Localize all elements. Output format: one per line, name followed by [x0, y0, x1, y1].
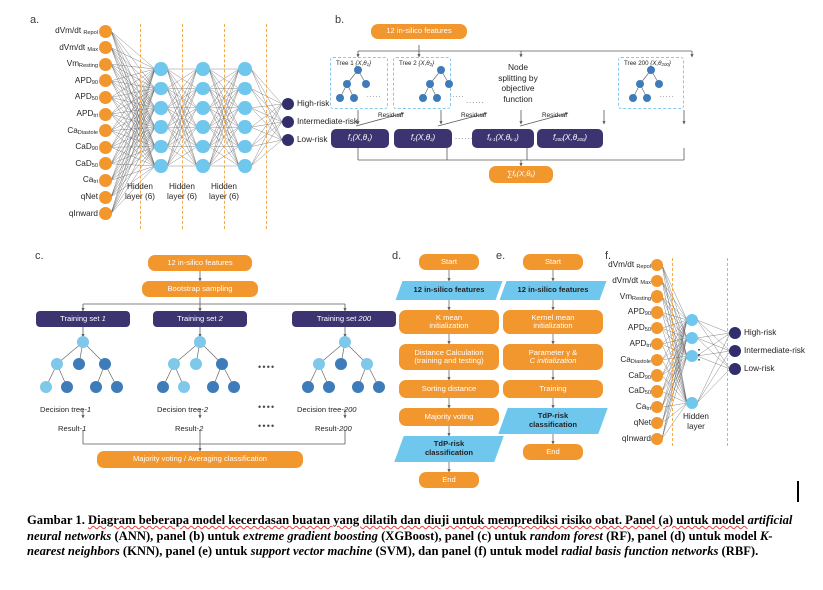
- panel-f-edges: [0, 0, 823, 510]
- feature-base: Vm: [620, 292, 632, 301]
- caption-prefix: Gambar 1.: [27, 513, 88, 527]
- panel-f-feature-label-2: dVm/dt Max: [0, 277, 651, 286]
- feature-base: APD: [629, 339, 646, 348]
- panel-f-feature-label-4: APD90: [0, 308, 651, 317]
- panel-f-divider-2: [727, 258, 728, 446]
- feature-base: dVm/dt: [612, 276, 640, 285]
- caption-italic-5: support vector machine: [251, 544, 373, 558]
- panel-f-feature-label-6: APDtri: [0, 340, 651, 349]
- hidden-label-line1: Hidden: [683, 412, 709, 421]
- text-cursor: [797, 481, 799, 502]
- panel-f-feature-label-9: CaD50: [0, 387, 651, 396]
- features-label: 12 in-silico features: [518, 286, 589, 295]
- caption-text-1: Diagram beberapa model kecerdasan buatan…: [88, 513, 748, 527]
- panel-f-output-label-1: High-risk: [744, 329, 776, 337]
- figure-caption: Gambar 1. Diagram beberapa model kecerda…: [27, 513, 799, 560]
- caption-text-7: (RBF).: [718, 544, 758, 558]
- tdp-line2: classification: [529, 421, 577, 430]
- feature-base: Ca: [620, 355, 630, 364]
- caption-text-5: (KNN), panel (e) untuk: [120, 544, 251, 558]
- caption-text-4: (RF), panel (d) untuk model: [603, 529, 760, 543]
- feature-base: Ca: [636, 402, 646, 411]
- panel-f-feature-label-7: CaDiastole: [0, 356, 651, 365]
- panel-f-divider-1: [672, 258, 673, 446]
- hidden-label-line2: layer: [687, 422, 705, 431]
- figure-canvas: a. dVm/dt RepoldVm/dt MaxVmRestingAPD90A…: [0, 0, 823, 510]
- features-label: 12 in-silico features: [414, 286, 485, 295]
- feature-base: CaD: [628, 371, 644, 380]
- feature-base: qNet: [634, 418, 651, 427]
- feature-base: APD: [628, 307, 645, 316]
- panel-f-feature-label-12: qInward: [0, 435, 651, 443]
- panel-f-feature-label-1: dVm/dt Repol: [0, 261, 651, 270]
- feature-subscript: Repol: [636, 264, 651, 270]
- caption-text-6: (SVM), dan panel (f) untuk model: [372, 544, 561, 558]
- feature-subscript: Diastole: [631, 359, 651, 365]
- feature-subscript: Max: [640, 280, 651, 286]
- panel-f-input-node-8: [651, 369, 664, 382]
- panel-f-output-label-2: Intermediate-risk: [744, 347, 805, 355]
- caption-italic-3: random forest: [530, 529, 603, 543]
- caption-text-2: (ANN), panel (b) untuk: [111, 529, 243, 543]
- panel-f-input-node-4: [651, 306, 664, 319]
- caption-italic-2: extreme gradient boosting: [243, 529, 378, 543]
- feature-subscript: Resting: [632, 296, 651, 302]
- panel-f-feature-label-8: CaD90: [0, 372, 651, 381]
- panel-f-input-node-3: [651, 290, 664, 303]
- feature-base: CaD: [628, 386, 644, 395]
- panel-f-hidden-label: Hidden layer: [676, 412, 716, 431]
- caption-italic-6: radial basis function networks: [561, 544, 718, 558]
- feature-base: dVm/dt: [608, 260, 636, 269]
- panel-f-output-label-3: Low-risk: [744, 365, 774, 373]
- panel-f-vertical-ellipsis: ⋮: [692, 352, 706, 357]
- caption-text-3: (XGBoost), panel (c) untuk: [378, 529, 530, 543]
- panel-f-input-node-9: [651, 385, 664, 398]
- feature-base: APD: [628, 323, 645, 332]
- feature-base: qInward: [622, 434, 651, 443]
- tdp-line2: classification: [425, 449, 473, 458]
- panel-f-feature-label-5: APD50: [0, 324, 651, 333]
